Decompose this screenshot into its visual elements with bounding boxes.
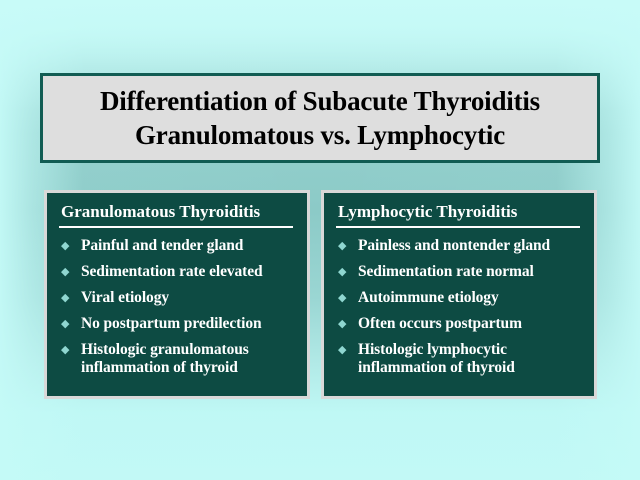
list-item-label: Often occurs postpartum (358, 315, 584, 333)
slide-title-box: Differentiation of Subacute Thyroiditis … (40, 73, 600, 163)
list-item-label: Sedimentation rate normal (358, 263, 584, 281)
diamond-bullet-icon: ◆ (334, 315, 358, 334)
diamond-bullet-icon: ◆ (57, 263, 81, 282)
diamond-bullet-icon: ◆ (57, 315, 81, 334)
list-item-label: Histologic granulomatousinflammation of … (81, 341, 297, 377)
list-item: ◆ Sedimentation rate elevated (57, 263, 297, 282)
list-item: ◆ Painless and nontender gland (334, 237, 584, 256)
list-item: ◆ No postpartum predilection (57, 315, 297, 334)
list-item: ◆ Sedimentation rate normal (334, 263, 584, 282)
list-item: ◆ Viral etiology (57, 289, 297, 308)
list-item: ◆ Histologic lymphocyticinflammation of … (334, 341, 584, 377)
list-item-label: Sedimentation rate elevated (81, 263, 297, 281)
list-item: ◆ Painful and tender gland (57, 237, 297, 256)
list-item: ◆ Autoimmune etiology (334, 289, 584, 308)
list-item-label: Viral etiology (81, 289, 297, 307)
panel-header-granulomatous: Granulomatous Thyroiditis (57, 201, 297, 225)
panel-lymphocytic-thyroiditis: Lymphocytic Thyroiditis ◆ Painless and n… (321, 190, 597, 399)
diamond-bullet-icon: ◆ (334, 237, 358, 256)
presentation-slide: Differentiation of Subacute Thyroiditis … (0, 0, 640, 480)
panel-header-lymphocytic: Lymphocytic Thyroiditis (334, 201, 584, 225)
list-item-label: Painless and nontender gland (358, 237, 584, 255)
list-item-label: Histologic lymphocyticinflammation of th… (358, 341, 584, 377)
list-item-label: Autoimmune etiology (358, 289, 584, 307)
bullet-list-granulomatous: ◆ Painful and tender gland ◆ Sedimentati… (57, 237, 297, 377)
list-item-label-line-2: inflammation of thyroid (81, 359, 297, 377)
list-item-label: No postpartum predilection (81, 315, 297, 333)
list-item: ◆ Histologic granulomatousinflammation o… (57, 341, 297, 377)
list-item: ◆ Often occurs postpartum (334, 315, 584, 334)
list-item-label-line-1: Histologic granulomatous (81, 341, 249, 358)
diamond-bullet-icon: ◆ (334, 289, 358, 308)
list-item-label: Painful and tender gland (81, 237, 297, 255)
diamond-bullet-icon: ◆ (57, 289, 81, 308)
panel-granulomatous-thyroiditis: Granulomatous Thyroiditis ◆ Painful and … (44, 190, 310, 399)
diamond-bullet-icon: ◆ (57, 341, 81, 360)
panel-header-divider (59, 226, 293, 228)
bullet-list-lymphocytic: ◆ Painless and nontender gland ◆ Sedimen… (334, 237, 584, 377)
diamond-bullet-icon: ◆ (334, 341, 358, 360)
list-item-label-line-1: Histologic lymphocytic (358, 341, 507, 358)
diamond-bullet-icon: ◆ (57, 237, 81, 256)
slide-title-line-1: Differentiation of Subacute Thyroiditis (100, 84, 540, 118)
diamond-bullet-icon: ◆ (334, 263, 358, 282)
list-item-label-line-2: inflammation of thyroid (358, 359, 584, 377)
slide-title-line-2: Granulomatous vs. Lymphocytic (135, 118, 505, 152)
panel-header-divider (336, 226, 580, 228)
